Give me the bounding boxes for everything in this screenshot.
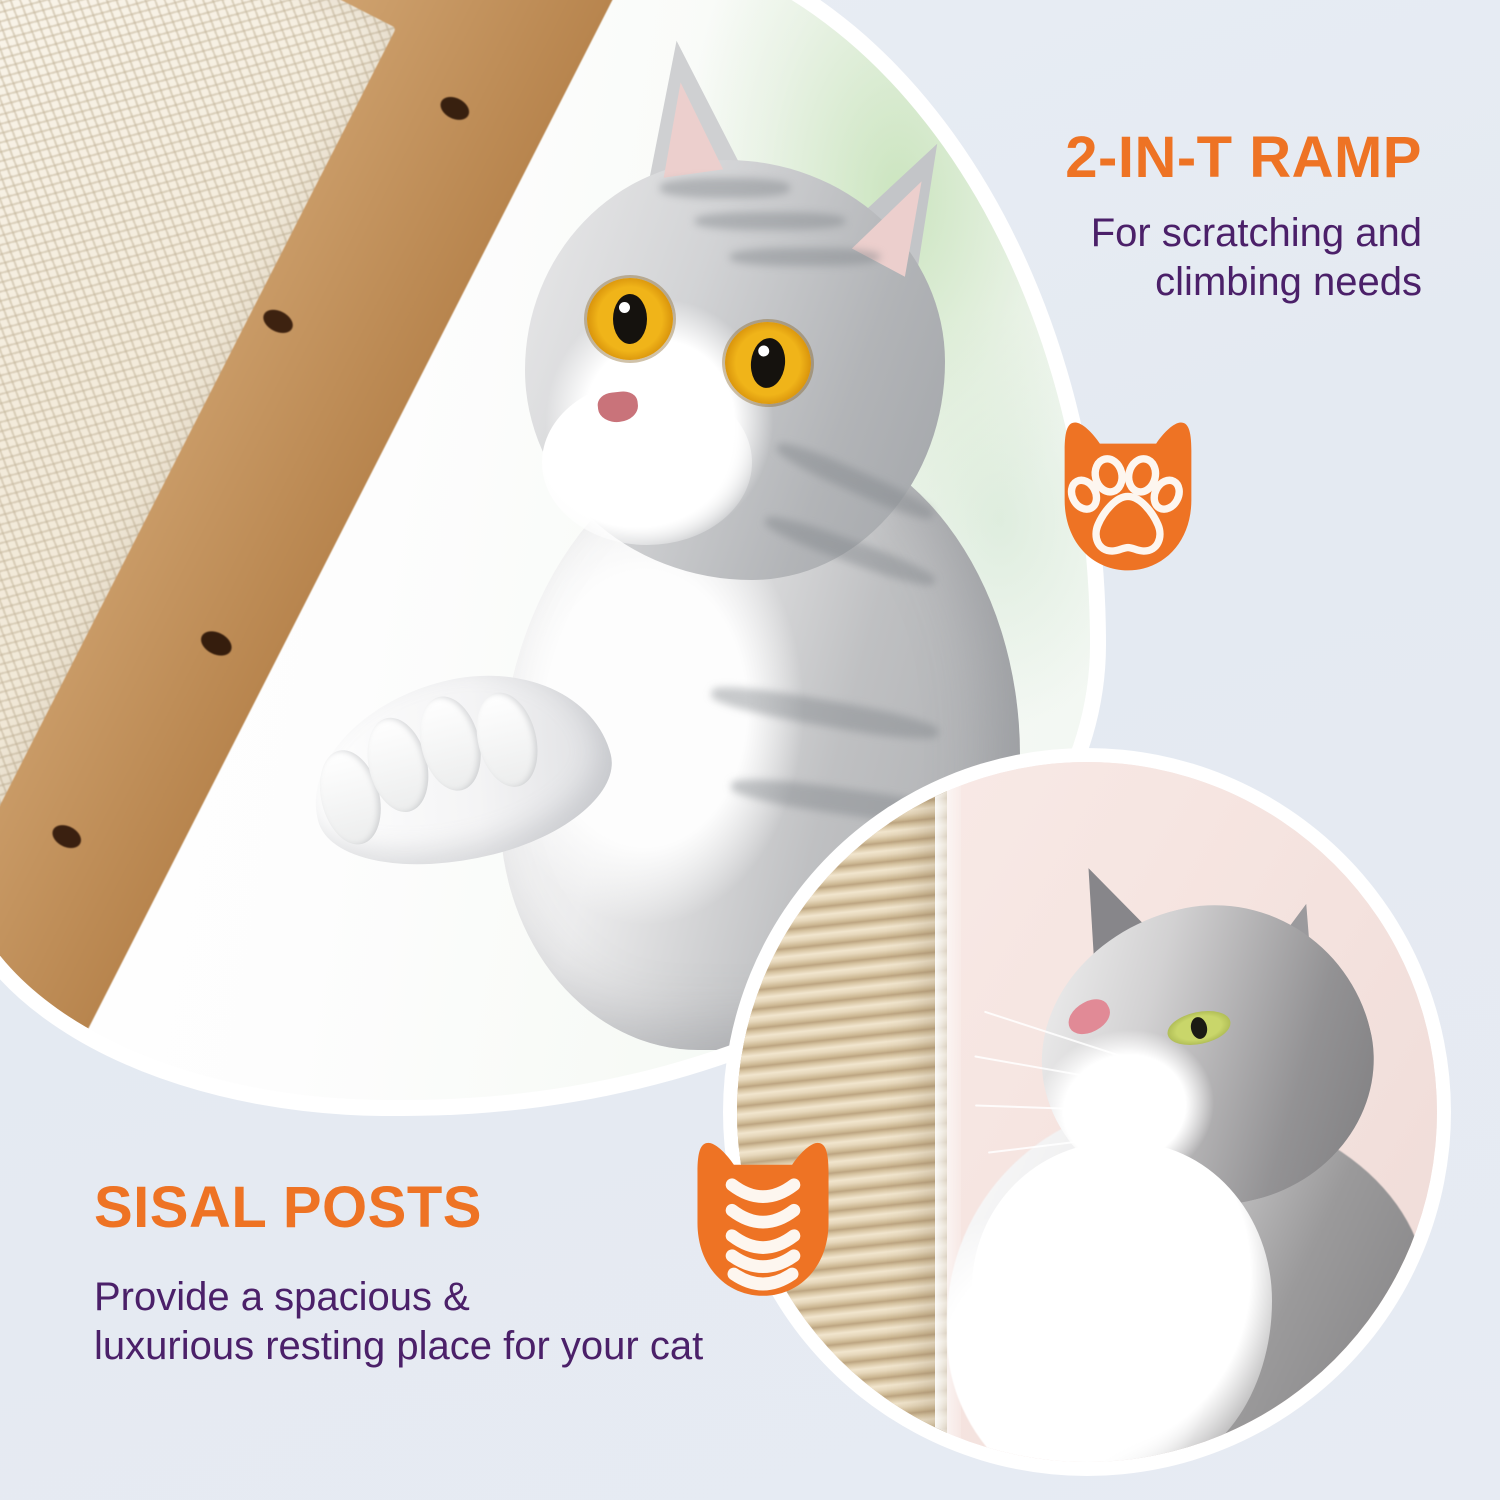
sisal-subline-line-1: Provide a spacious &	[94, 1273, 854, 1322]
cat-muzzle	[542, 380, 752, 545]
cat-pupil	[748, 336, 787, 389]
fluffy-gray-white-cat	[917, 852, 1437, 1462]
cat-head-paw-badge-icon	[1040, 412, 1216, 588]
ramp-subline-line-1: For scratching and	[862, 209, 1422, 258]
sisal-subline-line-2: luxurious resting place for your cat	[94, 1322, 854, 1371]
sisal-feature-text-block: SISAL POSTS Provide a spacious & luxurio…	[94, 1178, 854, 1371]
cat-forehead-stripe	[660, 178, 790, 198]
cat-forehead-stripe	[730, 248, 880, 266]
cat-ear-inner-left	[651, 78, 723, 177]
cat-chest	[972, 1142, 1272, 1462]
sisal-headline: SISAL POSTS	[94, 1178, 854, 1237]
ramp-feature-text-block: 2-IN-T RAMP For scratching and climbing …	[862, 128, 1422, 307]
ramp-subline-line-2: climbing needs	[862, 258, 1422, 307]
cat-pupil	[613, 294, 647, 344]
cat-forehead-stripe	[695, 212, 845, 230]
cat-eye-left	[587, 278, 673, 360]
ramp-subline: For scratching and climbing needs	[862, 209, 1422, 307]
sisal-subline: Provide a spacious & luxurious resting p…	[94, 1273, 854, 1371]
ramp-headline: 2-IN-T RAMP	[862, 128, 1422, 187]
cat-toe	[467, 686, 547, 793]
product-feature-infographic: 2-IN-T RAMP For scratching and climbing …	[0, 0, 1500, 1500]
